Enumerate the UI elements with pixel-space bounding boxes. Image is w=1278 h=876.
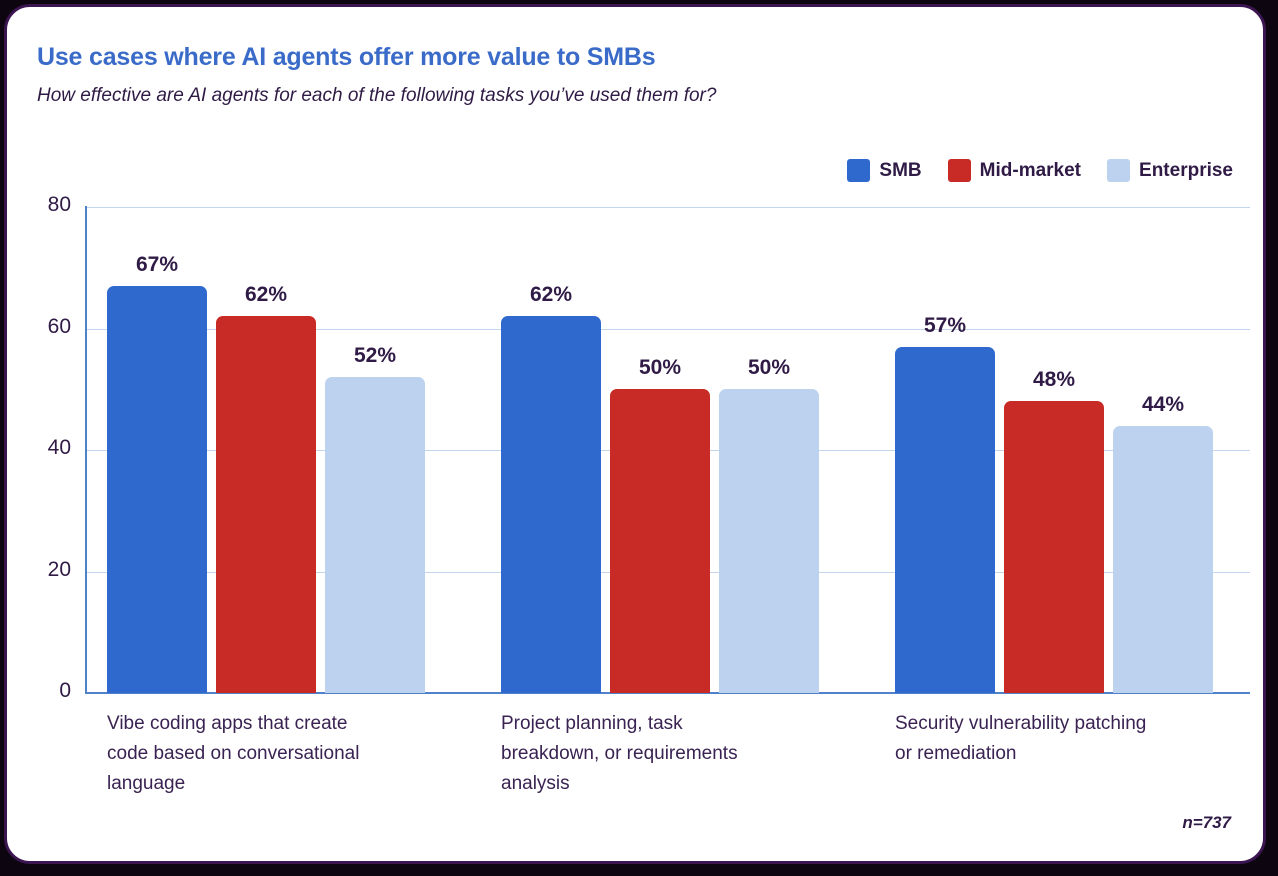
bar[interactable] <box>1113 426 1213 693</box>
bar[interactable] <box>107 286 207 693</box>
category-label-line: code based on conversational <box>107 739 417 769</box>
y-axis-tick-label: 40 <box>11 436 71 460</box>
legend-swatch-smb <box>847 159 870 182</box>
bar[interactable] <box>719 389 819 693</box>
sample-size-note: n=737 <box>1182 813 1231 833</box>
legend-label-smb: SMB <box>879 160 921 182</box>
bar[interactable] <box>501 316 601 693</box>
category-label-line: analysis <box>501 769 811 799</box>
category-label-line: or remediation <box>895 739 1205 769</box>
chart-card: Use cases where AI agents offer more val… <box>4 4 1266 864</box>
y-axis-tick-label: 20 <box>11 558 71 582</box>
category-label-line: Vibe coding apps that create <box>107 709 417 739</box>
bar-value-label: 62% <box>216 283 316 307</box>
bar-value-label: 44% <box>1113 393 1213 417</box>
legend-item-smb[interactable]: SMB <box>847 159 921 182</box>
category-label-line: Security vulnerability patching <box>895 709 1205 739</box>
bar[interactable] <box>1004 401 1104 693</box>
chart-subtitle: How effective are AI agents for each of … <box>37 85 716 107</box>
bar-value-label: 67% <box>107 253 207 277</box>
legend-label-enterprise: Enterprise <box>1139 160 1233 182</box>
plot-area: 67%62%52%62%50%50%57%48%44% <box>87 207 1250 693</box>
y-axis-tick-label: 80 <box>11 193 71 217</box>
legend-item-enterprise[interactable]: Enterprise <box>1107 159 1233 182</box>
bar-value-label: 50% <box>719 356 819 380</box>
category-label-line: breakdown, or requirements <box>501 739 811 769</box>
bar-value-label: 48% <box>1004 368 1104 392</box>
bar-value-label: 50% <box>610 356 710 380</box>
legend-swatch-enterprise <box>1107 159 1130 182</box>
y-axis-tick-label: 0 <box>11 679 71 703</box>
page-title: Use cases where AI agents offer more val… <box>37 43 655 72</box>
category-label-line: language <box>107 769 417 799</box>
x-axis-category-label: Project planning, taskbreakdown, or requ… <box>501 709 811 799</box>
bar[interactable] <box>895 347 995 693</box>
legend-label-mid-market: Mid-market <box>980 160 1081 182</box>
x-axis-category-label: Security vulnerability patchingor remedi… <box>895 709 1205 769</box>
category-label-line: Project planning, task <box>501 709 811 739</box>
gridline <box>87 207 1250 208</box>
bar-value-label: 62% <box>501 283 601 307</box>
y-axis-tick-label: 60 <box>11 315 71 339</box>
bar-value-label: 52% <box>325 344 425 368</box>
bar[interactable] <box>216 316 316 693</box>
x-axis-category-label: Vibe coding apps that createcode based o… <box>107 709 417 799</box>
bar-value-label: 57% <box>895 314 995 338</box>
bar[interactable] <box>325 377 425 693</box>
chart-legend: SMB Mid-market Enterprise <box>847 159 1233 182</box>
bar[interactable] <box>610 389 710 693</box>
legend-swatch-mid-market <box>948 159 971 182</box>
legend-item-mid-market[interactable]: Mid-market <box>948 159 1081 182</box>
